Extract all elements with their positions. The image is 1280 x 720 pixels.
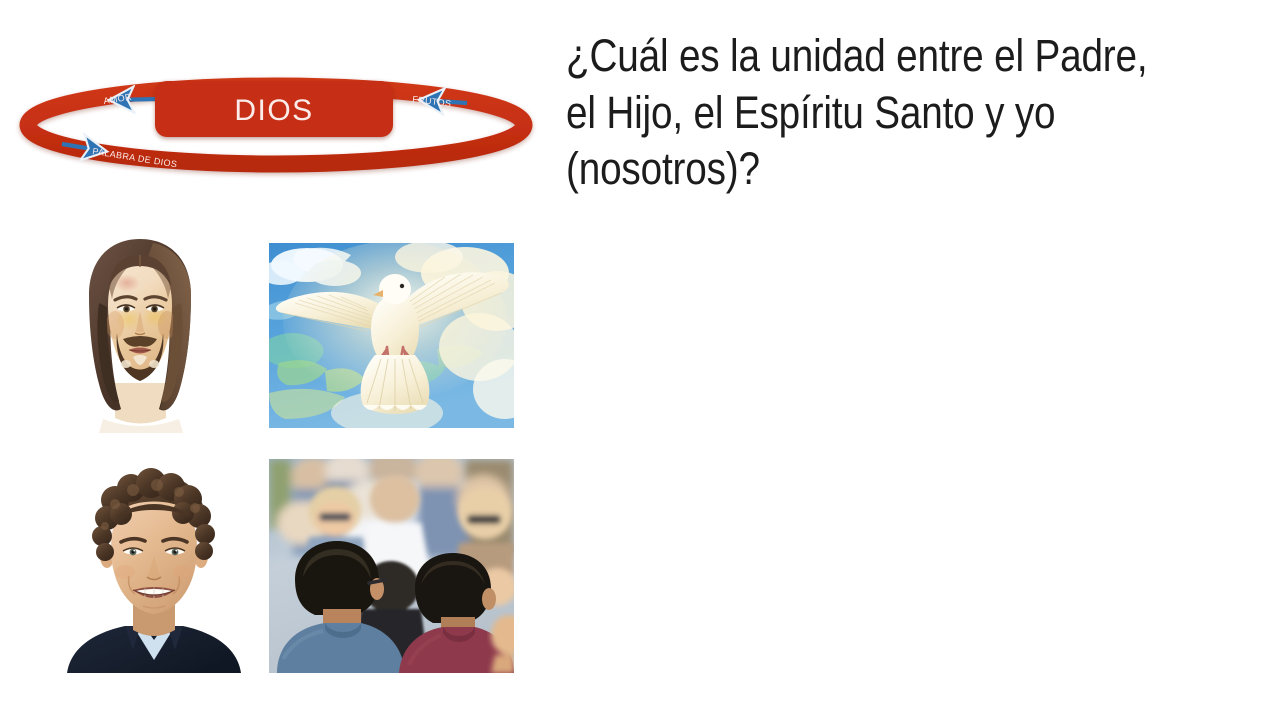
slide-canvas: AMOR FRUTOS PALABRA DE DIOS DIOS ¿Cuál e… (0, 0, 1280, 720)
dios-box-label: DIOS (234, 94, 313, 127)
page-title: ¿Cuál es la unidad entre el Padre, el Hi… (566, 28, 1159, 198)
crowd-people-image (269, 459, 514, 673)
cycle-diagram: AMOR FRUTOS PALABRA DE DIOS DIOS (18, 78, 538, 178)
holy-spirit-dove-image (269, 243, 514, 428)
man-portrait-image (63, 464, 245, 673)
jesus-watercolor-image (63, 233, 218, 433)
